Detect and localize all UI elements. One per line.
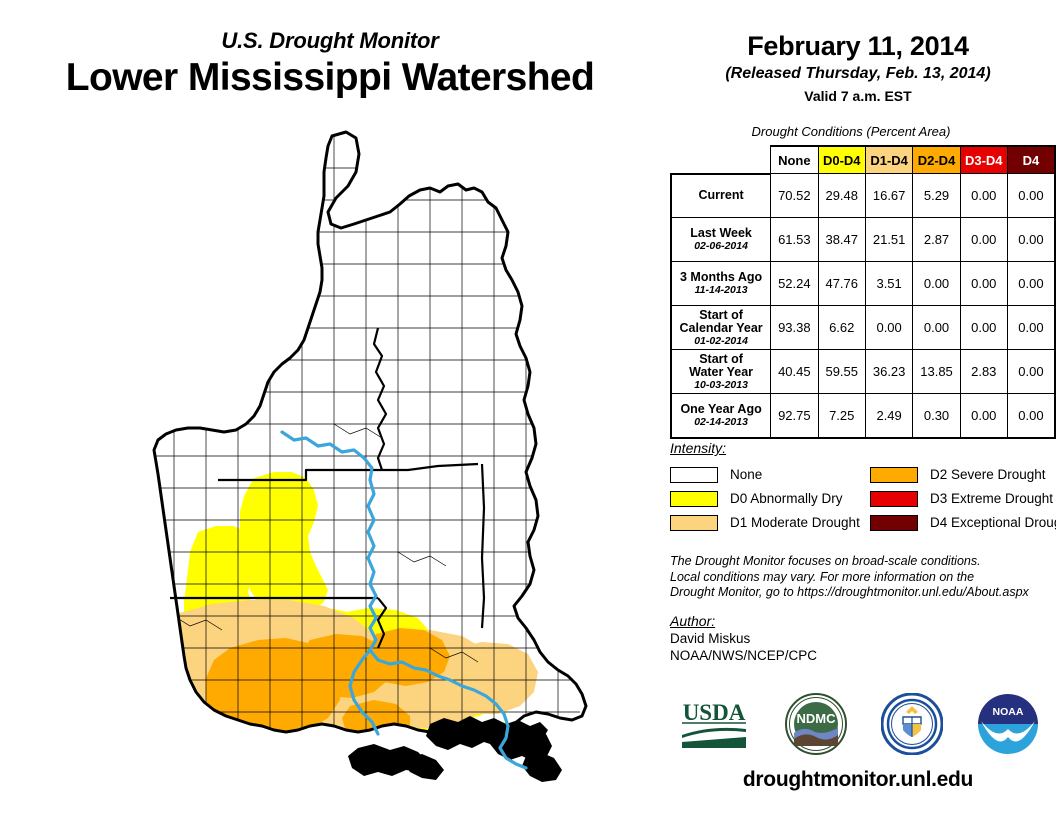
table-row: 3 Months Ago 11-14-2013 52.24 47.76 3.51… — [671, 262, 1055, 306]
cell-calyear-d3d4: 0.00 — [960, 306, 1007, 350]
cell-wateryear-none: 40.45 — [771, 350, 818, 394]
col-header-d3d4: D3-D4 — [960, 146, 1007, 174]
author-title: Author: — [670, 612, 1050, 630]
col-header-d1d4: D1-D4 — [865, 146, 912, 174]
cell-current-none: 70.52 — [771, 174, 818, 218]
cell-3months-d2d4: 0.00 — [913, 262, 960, 306]
cell-wateryear-d1d4: 36.23 — [865, 350, 912, 394]
table-corner-cell — [671, 146, 771, 174]
table-header-row: None D0-D4 D1-D4 D2-D4 D3-D4 D4 — [671, 146, 1055, 174]
cell-oneyear-d1d4: 2.49 — [865, 394, 912, 439]
cell-current-d4: 0.00 — [1007, 174, 1055, 218]
cell-oneyear-d4: 0.00 — [1007, 394, 1055, 439]
disclaimer-line-3: Drought Monitor, go to https://droughtmo… — [670, 585, 1050, 601]
author-name: David Miskus — [670, 630, 1050, 647]
noaa-logo[interactable]: NOAA — [977, 693, 1039, 755]
cell-oneyear-d3d4: 0.00 — [960, 394, 1007, 439]
cell-3months-d4: 0.00 — [1007, 262, 1055, 306]
cell-current-d1d4: 16.67 — [865, 174, 912, 218]
drought-conditions-table: None D0-D4 D1-D4 D2-D4 D3-D4 D4 Current … — [670, 145, 1056, 439]
noaa-logo-text: NOAA — [993, 706, 1024, 718]
cell-lastweek-d2d4: 2.87 — [913, 218, 960, 262]
row-label-current: Current — [671, 174, 771, 218]
cell-3months-d0d4: 47.76 — [818, 262, 865, 306]
table-row: One Year Ago 02-14-2013 92.75 7.25 2.49 … — [671, 394, 1055, 439]
col-header-d2d4: D2-D4 — [913, 146, 960, 174]
col-header-d0d4: D0-D4 — [818, 146, 865, 174]
site-url[interactable]: droughtmonitor.unl.edu — [660, 768, 1056, 792]
legend-label-d0: D0 Abnormally Dry — [730, 491, 843, 507]
swatch-d2-icon — [870, 467, 918, 483]
row-label-start-water-year: Start ofWater Year 10-03-2013 — [671, 350, 771, 394]
cell-current-d2d4: 5.29 — [913, 174, 960, 218]
table-row: Last Week 02-06-2014 61.53 38.47 21.51 2… — [671, 218, 1055, 262]
cell-calyear-d0d4: 6.62 — [818, 306, 865, 350]
table-row: Start ofWater Year 10-03-2013 40.45 59.5… — [671, 350, 1055, 394]
swatch-d3-icon — [870, 491, 918, 507]
cell-3months-none: 52.24 — [771, 262, 818, 306]
release-date: (Released Thursday, Feb. 13, 2014) — [660, 64, 1056, 84]
col-header-d4: D4 — [1007, 146, 1055, 174]
disclaimer-line-1: The Drought Monitor focuses on broad-sca… — [670, 554, 1050, 570]
ndmc-logo-text: NDMC — [797, 711, 837, 726]
legend-item-none: None — [670, 467, 870, 483]
usda-logo-text: USDA — [683, 700, 746, 725]
ndmc-logo[interactable]: NDMC — [785, 693, 847, 755]
row-label-main: Start ofCalendar Year — [680, 308, 763, 335]
disclaimer-line-2: Local conditions may vary. For more info… — [670, 570, 1050, 586]
product-title: U.S. Drought Monitor — [0, 28, 660, 54]
map-panel: U.S. Drought Monitor Lower Mississippi W… — [0, 0, 660, 816]
drought-map[interactable] — [78, 128, 598, 788]
cell-wateryear-d2d4: 13.85 — [913, 350, 960, 394]
legend-label-d2: D2 Severe Drought — [930, 467, 1046, 483]
cell-lastweek-d4: 0.00 — [1007, 218, 1055, 262]
cell-current-d3d4: 0.00 — [960, 174, 1007, 218]
cell-calyear-none: 93.38 — [771, 306, 818, 350]
legend-item-d2: D2 Severe Drought — [870, 467, 1056, 483]
row-label-main: Start ofWater Year — [689, 352, 753, 379]
cell-3months-d1d4: 3.51 — [865, 262, 912, 306]
row-label-start-calendar-year: Start ofCalendar Year 01-02-2014 — [671, 306, 771, 350]
table-row: Start ofCalendar Year 01-02-2014 93.38 6… — [671, 306, 1055, 350]
cell-oneyear-d0d4: 7.25 — [818, 394, 865, 439]
legend-label-d1: D1 Moderate Drought — [730, 515, 860, 531]
cell-wateryear-d0d4: 59.55 — [818, 350, 865, 394]
table-row: Current 70.52 29.48 16.67 5.29 0.00 0.00 — [671, 174, 1055, 218]
valid-time: Valid 7 a.m. EST — [660, 87, 1056, 105]
author-affiliation: NOAA/NWS/NCEP/CPC — [670, 647, 1050, 664]
col-header-none: None — [771, 146, 818, 174]
cell-lastweek-d1d4: 21.51 — [865, 218, 912, 262]
cell-lastweek-d3d4: 0.00 — [960, 218, 1007, 262]
drought-map-svg — [78, 128, 598, 788]
disclaimer-text: The Drought Monitor focuses on broad-sca… — [670, 554, 1050, 601]
author-block: Author: David Miskus NOAA/NWS/NCEP/CPC — [670, 612, 1050, 664]
usda-logo[interactable]: USDA — [677, 698, 751, 750]
legend-label-d4: D4 Exceptional Drought — [930, 515, 1056, 531]
cell-current-d0d4: 29.48 — [818, 174, 865, 218]
cell-calyear-d2d4: 0.00 — [913, 306, 960, 350]
row-label-last-week: Last Week 02-06-2014 — [671, 218, 771, 262]
intensity-legend: Intensity: None D2 Severe Drought D0 Abn… — [670, 440, 1050, 535]
legend-grid: None D2 Severe Drought D0 Abnormally Dry… — [670, 463, 1050, 535]
legend-label-d3: D3 Extreme Drought — [930, 491, 1053, 507]
table-title: Drought Conditions (Percent Area) — [660, 124, 1042, 140]
cell-3months-d3d4: 0.00 — [960, 262, 1007, 306]
legend-item-d1: D1 Moderate Drought — [670, 515, 870, 531]
legend-label-none: None — [730, 467, 762, 483]
cell-wateryear-d4: 0.00 — [1007, 350, 1055, 394]
cell-oneyear-none: 92.75 — [771, 394, 818, 439]
usdc-seal[interactable] — [881, 693, 943, 755]
legend-item-d3: D3 Extreme Drought — [870, 491, 1056, 507]
swatch-d0-icon — [670, 491, 718, 507]
row-label-one-year-ago: One Year Ago 02-14-2013 — [671, 394, 771, 439]
cell-calyear-d4: 0.00 — [1007, 306, 1055, 350]
legend-item-d0: D0 Abnormally Dry — [670, 491, 870, 507]
cell-calyear-d1d4: 0.00 — [865, 306, 912, 350]
date-block: February 11, 2014 (Released Thursday, Fe… — [660, 30, 1056, 105]
swatch-d4-icon — [870, 515, 918, 531]
title-block: U.S. Drought Monitor Lower Mississippi W… — [0, 28, 660, 100]
region-title: Lower Mississippi Watershed — [0, 56, 660, 100]
swatch-none-icon — [670, 467, 718, 483]
report-date: February 11, 2014 — [660, 30, 1056, 62]
cell-oneyear-d2d4: 0.30 — [913, 394, 960, 439]
cell-lastweek-none: 61.53 — [771, 218, 818, 262]
row-label-3-months-ago: 3 Months Ago 11-14-2013 — [671, 262, 771, 306]
swatch-d1-icon — [670, 515, 718, 531]
info-panel: February 11, 2014 (Released Thursday, Fe… — [660, 0, 1056, 816]
agency-logos: USDA NDMC — [660, 686, 1056, 762]
cell-wateryear-d3d4: 2.83 — [960, 350, 1007, 394]
legend-title: Intensity: — [670, 440, 1050, 456]
cell-lastweek-d0d4: 38.47 — [818, 218, 865, 262]
legend-item-d4: D4 Exceptional Drought — [870, 515, 1056, 531]
